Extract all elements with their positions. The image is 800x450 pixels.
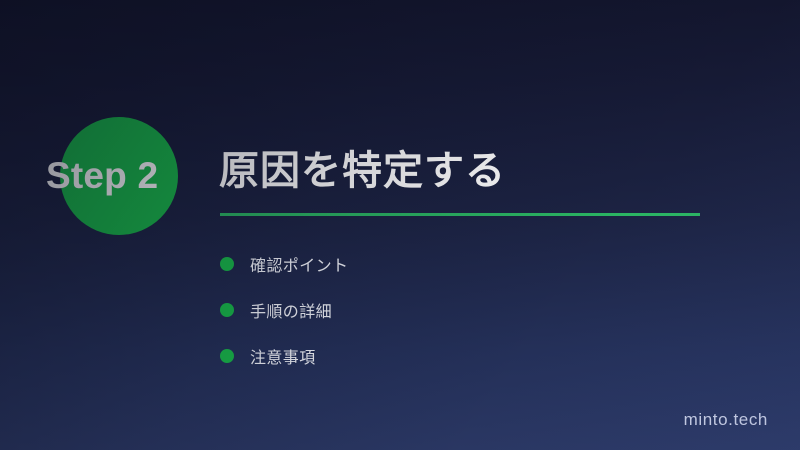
bullet-label: 確認ポイント: [250, 252, 348, 276]
slide-title: 原因を特定する: [219, 147, 506, 195]
list-item: 注意事項: [220, 333, 348, 379]
bullet-dot-icon: [220, 349, 234, 363]
slide-content: Step 2 原因を特定する 確認ポイント 手順の詳細 注意事項 minto.t…: [0, 0, 800, 450]
bullet-label: 手順の詳細: [250, 298, 332, 322]
watermark-label: minto.tech: [684, 410, 768, 430]
bullet-label: 注意事項: [250, 344, 316, 368]
bullet-dot-icon: [220, 303, 234, 317]
list-item: 手順の詳細: [220, 287, 348, 333]
bullet-list: 確認ポイント 手順の詳細 注意事項: [220, 241, 348, 379]
list-item: 確認ポイント: [220, 241, 348, 287]
bullet-dot-icon: [220, 257, 234, 271]
slide-canvas: Step 2 原因を特定する 確認ポイント 手順の詳細 注意事項 minto.t…: [0, 0, 800, 450]
title-divider: [220, 213, 700, 216]
step-badge-label: Step 2: [46, 154, 158, 198]
